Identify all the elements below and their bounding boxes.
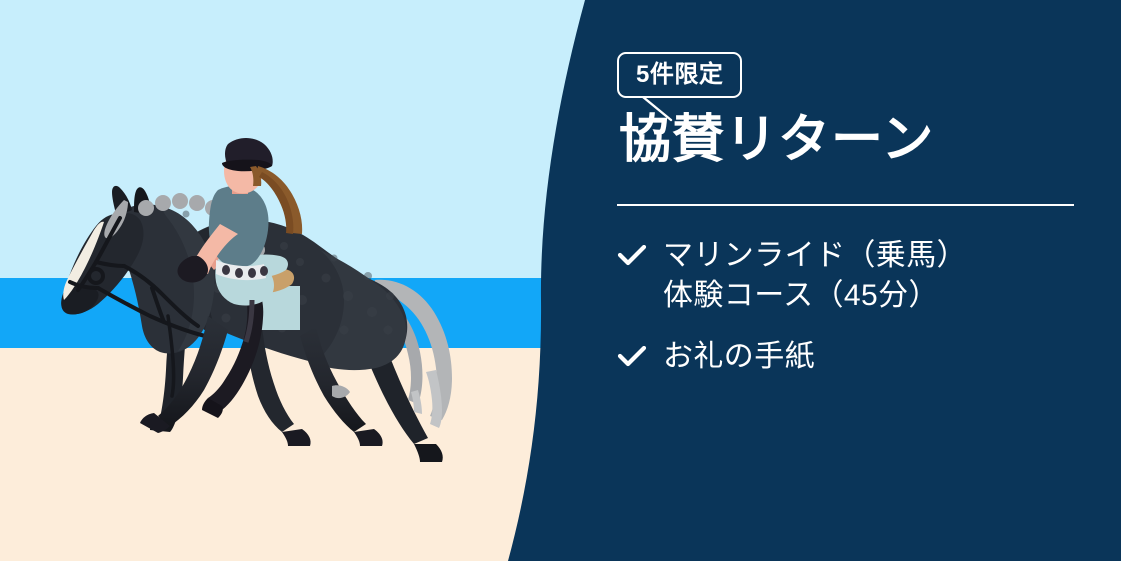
- badge-box: 5件限定: [617, 52, 742, 98]
- badge-label: 5件限定: [636, 63, 723, 87]
- sponsor-return-banner: 5件限定 協賛リターン マリンライド（乗馬） 体験コース（45分）: [0, 0, 1121, 561]
- perk-label: マリンライド（乗馬） 体験コース（45分）: [663, 236, 967, 315]
- limited-quantity-badge: 5件限定: [617, 52, 777, 114]
- list-item: お礼の手紙: [617, 337, 1087, 377]
- perk-label: お礼の手紙: [663, 337, 815, 377]
- panel-content: 5件限定 協賛リターン マリンライド（乗馬） 体験コース（45分）: [617, 0, 1087, 561]
- page-title: 協賛リターン: [619, 112, 934, 168]
- list-item: マリンライド（乗馬） 体験コース（45分）: [617, 236, 1087, 315]
- rider-top: [209, 186, 269, 268]
- perk-list: マリンライド（乗馬） 体験コース（45分） お礼の手紙: [617, 236, 1087, 399]
- divider: [617, 204, 1074, 206]
- check-icon: [617, 245, 647, 267]
- check-icon: [617, 346, 647, 368]
